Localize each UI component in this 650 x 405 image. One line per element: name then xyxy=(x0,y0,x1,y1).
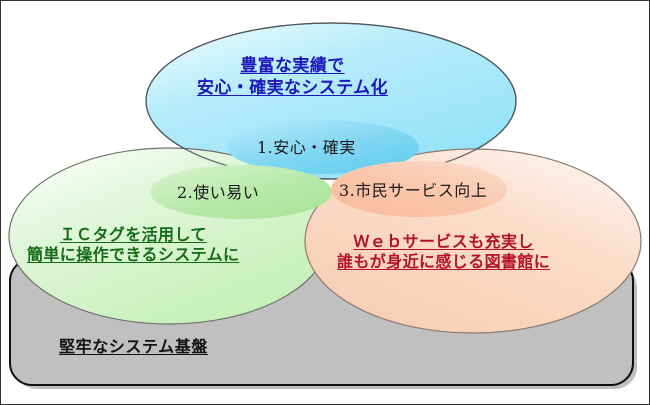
inner-ellipse-red[interactable] xyxy=(331,161,507,217)
venn-diagram-graphic xyxy=(1,1,650,405)
inner-ellipse-green[interactable] xyxy=(150,165,332,219)
diagram-canvas: 豊富な実績で 安心・確実なシステム化 ＩＣタグを活用して 簡単に操作できるシステ… xyxy=(0,0,650,405)
